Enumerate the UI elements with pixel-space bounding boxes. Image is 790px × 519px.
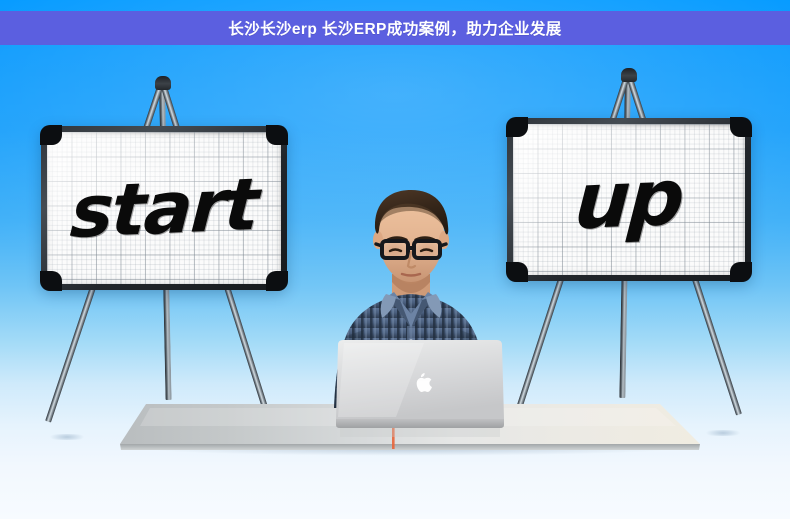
easel-right: up (466, 68, 790, 438)
easel-left: start (0, 76, 320, 446)
page-title: 长沙长沙erp 长沙ERP成功案例，助力企业发展 (228, 17, 561, 39)
word-text-start: start (68, 162, 260, 254)
whiteboard-left-word: start (47, 132, 281, 284)
page-title-banner: 长沙长沙erp 长沙ERP成功案例，助力企业发展 (0, 11, 790, 45)
whiteboard-right[interactable]: up (507, 118, 751, 281)
board-corner-bl-right (506, 262, 528, 282)
laptop-macbook[interactable] (334, 337, 506, 439)
whiteboard-right-surface: up (513, 124, 745, 275)
scene-canvas: start up (0, 0, 790, 519)
board-corner-br-right (730, 262, 752, 282)
whiteboard-right-word: up (513, 124, 745, 275)
whiteboard-left-surface: start (47, 132, 281, 284)
board-corner-br-left (266, 271, 288, 291)
board-corner-tl-left (40, 125, 62, 145)
easel-apex-right (621, 68, 637, 82)
word-text-up: up (572, 152, 685, 247)
board-corner-tr-left (266, 125, 288, 145)
whiteboard-left[interactable]: start (41, 126, 287, 290)
board-corner-tl-right (506, 117, 528, 137)
board-corner-bl-left (40, 271, 62, 291)
easel-apex-left (155, 76, 171, 90)
board-corner-tr-right (730, 117, 752, 137)
